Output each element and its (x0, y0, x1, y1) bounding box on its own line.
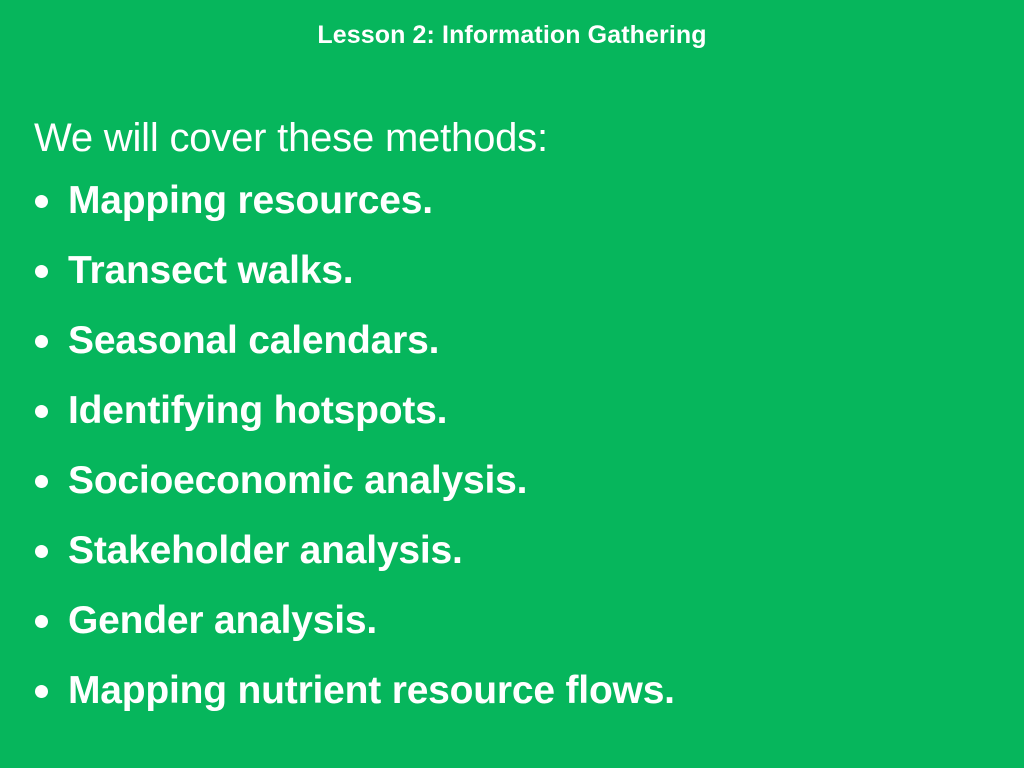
list-item-label: Gender analysis. (68, 586, 377, 656)
list-item: Gender analysis. (34, 586, 994, 656)
bullet-dot-icon (35, 475, 48, 488)
bullet-dot-icon (35, 335, 48, 348)
bullet-dot-icon (35, 685, 48, 698)
list-item-label: Identifying hotspots. (68, 376, 447, 446)
list-item: Seasonal calendars. (34, 306, 994, 376)
list-item-label: Mapping nutrient resource flows. (68, 656, 675, 726)
list-item-label: Seasonal calendars. (68, 306, 439, 376)
page-title: Lesson 2: Information Gathering (0, 20, 1024, 50)
bullet-dot-icon (35, 195, 48, 208)
bullet-dot-icon (35, 265, 48, 278)
list-item: Stakeholder analysis. (34, 516, 994, 586)
methods-list: Mapping resources. Transect walks. Seaso… (34, 166, 994, 726)
presentation-slide: Lesson 2: Information Gathering We will … (0, 0, 1024, 768)
bullet-dot-icon (35, 405, 48, 418)
list-item: Socioeconomic analysis. (34, 446, 994, 516)
bullet-dot-icon (35, 615, 48, 628)
list-item: Transect walks. (34, 236, 994, 306)
intro-text: We will cover these methods: (34, 110, 994, 166)
list-item: Identifying hotspots. (34, 376, 994, 446)
slide-body: We will cover these methods: Mapping res… (34, 110, 994, 726)
list-item: Mapping resources. (34, 166, 994, 236)
list-item-label: Stakeholder analysis. (68, 516, 463, 586)
bullet-dot-icon (35, 545, 48, 558)
list-item-label: Socioeconomic analysis. (68, 446, 527, 516)
list-item-label: Transect walks. (68, 236, 353, 306)
list-item-label: Mapping resources. (68, 166, 433, 236)
list-item: Mapping nutrient resource flows. (34, 656, 994, 726)
